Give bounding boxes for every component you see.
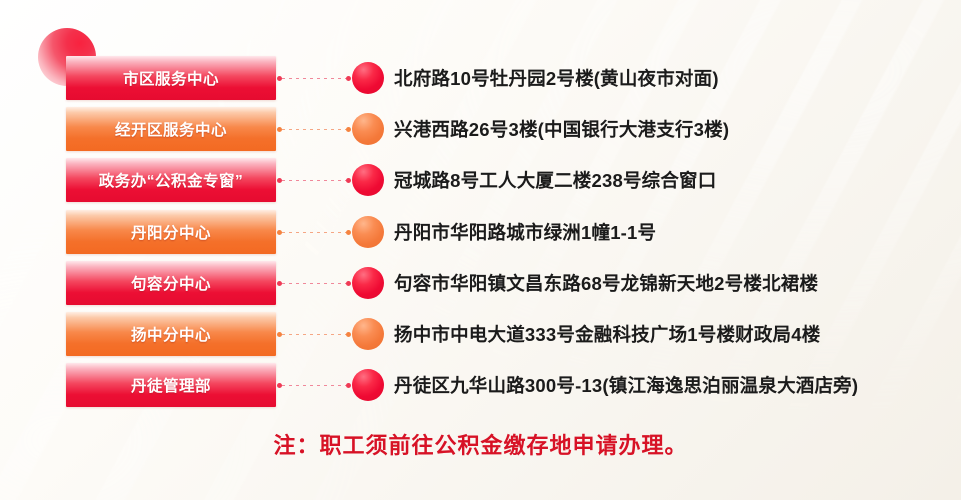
service-center-address: 丹徒区九华山路300号-13(镇江海逸思泊丽温泉大酒店旁) xyxy=(394,363,858,407)
service-center-badge-label: 经开区服务中心 xyxy=(115,118,227,140)
service-center-row: 丹徒管理部丹徒区九华山路300号-13(镇江海逸思泊丽温泉大酒店旁) xyxy=(0,363,961,407)
service-center-list: 市区服务中心北府路10号牡丹园2号楼(黄山夜市对面)经开区服务中心兴港西路26号… xyxy=(0,0,961,500)
bullet-circle-icon xyxy=(352,318,384,350)
connector-line xyxy=(277,332,351,337)
bullet-circle-icon xyxy=(352,369,384,401)
connector-line xyxy=(277,127,351,132)
connector-line xyxy=(277,178,351,183)
connector-end-dot xyxy=(346,332,351,337)
connector-dashes xyxy=(282,232,346,233)
service-center-address: 兴港西路26号3楼(中国银行大港支行3楼) xyxy=(394,107,729,151)
footer-note-text: 注：职工须前往公积金缴存地申请办理。 xyxy=(273,428,687,460)
service-center-badge[interactable]: 扬中分中心 xyxy=(66,312,276,356)
connector-dashes xyxy=(282,78,346,79)
connector-end-dot xyxy=(346,230,351,235)
service-center-badge[interactable]: 市区服务中心 xyxy=(66,56,276,100)
service-center-row: 扬中分中心扬中市中电大道333号金融科技广场1号楼财政局4楼 xyxy=(0,312,961,356)
service-center-badge-label: 丹徒管理部 xyxy=(131,374,211,396)
footer-note: 注：职工须前往公积金缴存地申请办理。 xyxy=(0,428,961,460)
service-center-badge-label: 市区服务中心 xyxy=(123,67,219,89)
service-center-address: 句容市华阳镇文昌东路68号龙锦新天地2号楼北裙楼 xyxy=(394,261,818,305)
bullet-circle-icon xyxy=(352,216,384,248)
bullet-circle-icon xyxy=(352,164,384,196)
connector-dashes xyxy=(282,385,346,386)
service-center-row: 经开区服务中心兴港西路26号3楼(中国银行大港支行3楼) xyxy=(0,107,961,151)
service-center-badge-label: 句容分中心 xyxy=(131,272,211,294)
service-center-badge[interactable]: 丹徒管理部 xyxy=(66,363,276,407)
service-center-badge[interactable]: 丹阳分中心 xyxy=(66,210,276,254)
service-center-row: 市区服务中心北府路10号牡丹园2号楼(黄山夜市对面) xyxy=(0,56,961,100)
connector-dashes xyxy=(282,180,346,181)
service-center-badge[interactable]: 经开区服务中心 xyxy=(66,107,276,151)
service-center-row: 句容分中心句容市华阳镇文昌东路68号龙锦新天地2号楼北裙楼 xyxy=(0,261,961,305)
bullet-circle-icon xyxy=(352,62,384,94)
service-center-address: 丹阳市华阳路城市绿洲1幢1-1号 xyxy=(394,210,656,254)
service-center-badge[interactable]: 句容分中心 xyxy=(66,261,276,305)
service-center-badge-label: 丹阳分中心 xyxy=(131,221,211,243)
connector-dashes xyxy=(282,283,346,284)
service-center-badge-label: 扬中分中心 xyxy=(131,323,211,345)
service-center-row: 丹阳分中心丹阳市华阳路城市绿洲1幢1-1号 xyxy=(0,210,961,254)
service-center-badge-label: 政务办“公积金专窗” xyxy=(99,169,244,191)
service-center-address: 北府路10号牡丹园2号楼(黄山夜市对面) xyxy=(394,56,719,100)
bullet-circle-icon xyxy=(352,267,384,299)
connector-dashes xyxy=(282,129,346,130)
connector-line xyxy=(277,281,351,286)
connector-end-dot xyxy=(346,281,351,286)
connector-line xyxy=(277,230,351,235)
connector-dashes xyxy=(282,334,346,335)
connector-end-dot xyxy=(346,178,351,183)
connector-line xyxy=(277,76,351,81)
connector-end-dot xyxy=(346,383,351,388)
bullet-circle-icon xyxy=(352,113,384,145)
service-center-address: 冠城路8号工人大厦二楼238号综合窗口 xyxy=(394,158,716,202)
service-center-row: 政务办“公积金专窗”冠城路8号工人大厦二楼238号综合窗口 xyxy=(0,158,961,202)
connector-line xyxy=(277,383,351,388)
connector-end-dot xyxy=(346,76,351,81)
connector-end-dot xyxy=(346,127,351,132)
service-center-address: 扬中市中电大道333号金融科技广场1号楼财政局4楼 xyxy=(394,312,820,356)
service-center-badge[interactable]: 政务办“公积金专窗” xyxy=(66,158,276,202)
